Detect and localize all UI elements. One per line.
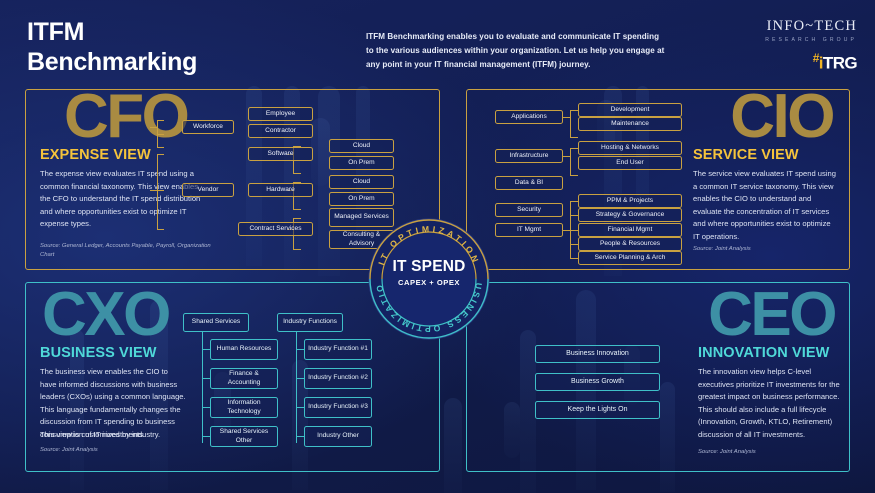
emblem-title: IT SPEND <box>368 258 490 276</box>
infographic-root: ITFM Benchmarking ITFM Benchmarking enab… <box>0 0 875 493</box>
cio-box-service-planning[interactable]: Service Planning & Arch <box>578 251 682 265</box>
itrg-logo-trg: TRG <box>823 54 857 73</box>
cfo-box-employee[interactable]: Employee <box>248 107 313 121</box>
cxo-source: Source: Joint Analysis <box>40 446 190 455</box>
cxo-box-industry-functions[interactable]: Industry Functions <box>277 313 343 332</box>
cfo-box-software-onprem[interactable]: On Prem <box>329 156 394 170</box>
cio-box-end-user[interactable]: End User <box>578 156 682 170</box>
cfo-box-workforce[interactable]: Workforce <box>182 120 234 134</box>
ceo-source: Source: Joint Analysis <box>698 448 848 457</box>
ceo-heading: INNOVATION VIEW <box>698 345 829 361</box>
cfo-box-vendor[interactable]: Vendor <box>182 183 234 197</box>
page-title-line1: ITFM <box>27 18 197 48</box>
cfo-heading: EXPENSE VIEW <box>40 147 151 163</box>
itrg-logo: #iTRG <box>765 51 857 74</box>
cxo-box-industry-function-1[interactable]: Industry Function #1 <box>304 339 372 360</box>
cfo-box-hardware-onprem[interactable]: On Prem <box>329 192 394 206</box>
cfo-box-contractor[interactable]: Contractor <box>248 124 313 138</box>
cfo-box-hardware[interactable]: Hardware <box>248 183 313 197</box>
intro-paragraph: ITFM Benchmarking enables you to evaluat… <box>366 30 666 72</box>
cio-box-applications[interactable]: Applications <box>495 110 563 124</box>
cfo-box-software[interactable]: Software <box>248 147 313 161</box>
cfo-box-contract-services[interactable]: Contract Services <box>238 222 313 236</box>
cio-body: The service view evaluates IT spend usin… <box>693 168 839 244</box>
cio-box-ppm-projects[interactable]: PPM & Projects <box>578 194 682 208</box>
ceo-box-keep-the-lights-on[interactable]: Keep the Lights On <box>535 401 660 419</box>
cio-box-development[interactable]: Development <box>578 103 682 117</box>
cfo-body: The expense view evaluates IT spend usin… <box>40 168 205 231</box>
cio-box-maintenance[interactable]: Maintenance <box>578 117 682 131</box>
cxo-heading: BUSINESS VIEW <box>40 345 157 361</box>
cio-box-security[interactable]: Security <box>495 203 563 217</box>
cxo-box-industry-function-2[interactable]: Industry Function #2 <box>304 368 372 389</box>
ceo-body: The innovation view helps C-level execut… <box>698 366 842 442</box>
cio-box-hosting-networks[interactable]: Hosting & Networks <box>578 141 682 155</box>
cxo-box-industry-function-3[interactable]: Industry Function #3 <box>304 397 372 418</box>
cxo-ghost-label: CXO <box>42 284 169 346</box>
header: ITFM Benchmarking ITFM Benchmarking enab… <box>0 0 875 86</box>
cio-box-it-mgmt[interactable]: IT Mgmt <box>495 223 563 237</box>
ceo-ghost-label: CEO <box>708 284 835 346</box>
cfo-box-software-cloud[interactable]: Cloud <box>329 139 394 153</box>
page-title: ITFM Benchmarking <box>27 18 197 77</box>
cfo-ghost-label: CFO <box>64 86 187 148</box>
ceo-box-business-innovation[interactable]: Business Innovation <box>535 345 660 363</box>
cio-source: Source: Joint Analysis <box>693 245 843 254</box>
cio-box-financial-mgmt[interactable]: Financial Mgmt <box>578 223 682 237</box>
cxo-box-information-technology[interactable]: Information Technology <box>210 397 278 418</box>
ceo-box-business-growth[interactable]: Business Growth <box>535 373 660 391</box>
cio-ghost-label: CIO <box>730 86 833 148</box>
cio-box-people-resources[interactable]: People & Resources <box>578 237 682 251</box>
quadrant-cio[interactable]: CIO SERVICE VIEW The service view evalua… <box>466 89 850 270</box>
center-emblem: IT OPTIMIZATION BUSINESS OPTIMIZATION IT… <box>368 218 490 340</box>
cfo-source: Source: General Ledger, Accounts Payable… <box>40 242 215 261</box>
page-title-line2: Benchmarking <box>27 48 197 78</box>
cio-box-data-bi[interactable]: Data & BI <box>495 176 563 190</box>
cxo-box-shared-services[interactable]: Shared Services <box>183 313 249 332</box>
cfo-box-hardware-cloud[interactable]: Cloud <box>329 175 394 189</box>
logo-wordmark: INFO~TECH <box>765 18 857 35</box>
cio-box-strategy-governance[interactable]: Strategy & Governance <box>578 208 682 222</box>
cxo-box-human-resources[interactable]: Human Resources <box>210 339 278 360</box>
emblem-subtitle: CAPEX + OPEX <box>368 278 490 287</box>
cio-heading: SERVICE VIEW <box>693 147 799 163</box>
cxo-box-industry-other[interactable]: Industry Other <box>304 426 372 447</box>
cxo-box-shared-services-other[interactable]: Shared Services Other <box>210 426 278 447</box>
logo-tagline: RESEARCH GROUP <box>765 37 857 43</box>
cio-box-infrastructure[interactable]: Infrastructure <box>495 149 563 163</box>
cxo-body-strong: This view is customized by industry. <box>40 429 200 442</box>
quadrant-ceo[interactable]: CEO INNOVATION VIEW The innovation view … <box>466 282 850 472</box>
cxo-box-finance-accounting[interactable]: Finance & Accounting <box>210 368 278 389</box>
brand-logo: INFO~TECH RESEARCH GROUP #iTRG <box>765 18 857 74</box>
